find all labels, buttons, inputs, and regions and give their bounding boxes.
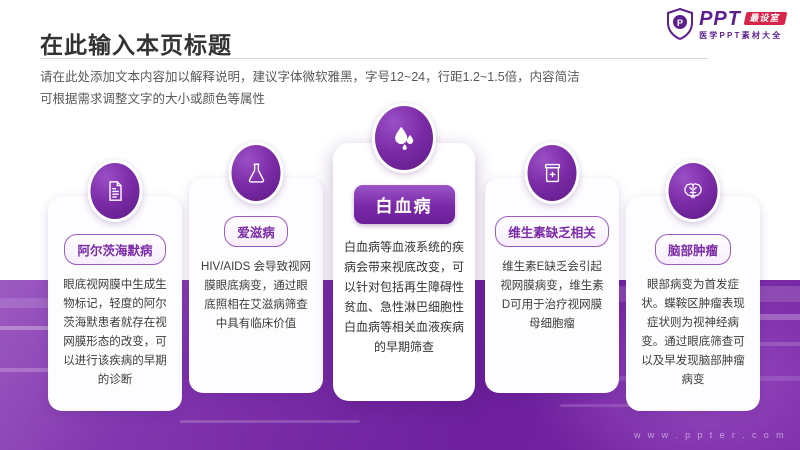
card-description: 维生素E缺乏会引起视网膜病变，维生素D可用于治疗视网膜母细胞瘤 (485, 258, 619, 334)
document-report-icon (91, 163, 140, 219)
card-icon-badge (666, 160, 721, 222)
slide-root: w w w . p p t e r . c o m 在此输入本页标题 请在此处添… (0, 0, 800, 450)
disease-card-alzheimer[interactable]: 阿尔茨海默病 眼底视网膜中生成生物标记，轻度的阿尔茨海默患者就存在视网膜形态的改… (48, 196, 182, 411)
card-description: HIV/AIDS 会导致视网膜眼底病变，通过眼底照相在艾滋病筛查中具有临床价值 (189, 258, 323, 334)
card-icon-badge (372, 103, 436, 173)
disease-card-brain-tumor[interactable]: 脑部肿瘤 眼部病变为首发症状。蝶鞍区肿瘤表现症状则为视神经病变。通过眼底筛查可以… (626, 196, 760, 411)
card-title-pill: 阿尔茨海默病 (64, 234, 165, 265)
card-description: 眼部病变为首发症状。蝶鞍区肿瘤表现症状则为视神经病变。通过眼底筛查可以及早发现脑… (626, 276, 760, 390)
card-title-pill: 脑部肿瘤 (655, 234, 731, 265)
disease-card-vitamin[interactable]: 维生素缺乏相关 维生素E缺乏会引起视网膜病变，维生素D可用于治疗视网膜母细胞瘤 (485, 178, 619, 393)
card-title-pill: 维生素缺乏相关 (495, 216, 609, 247)
card-icon-badge (525, 142, 580, 204)
disease-card-leukemia[interactable]: 白血病 白血病等血液系统的疾病会带来视底改变，可以针对包括再生障碍性贫血、急性淋… (333, 143, 475, 401)
card-icon-badge (88, 160, 143, 222)
card-row: 阿尔茨海默病 眼底视网膜中生成生物标记，轻度的阿尔茨海默患者就存在视网膜形态的改… (0, 0, 800, 450)
blood-drop-icon (375, 106, 433, 170)
card-icon-badge (229, 142, 284, 204)
disease-card-aids[interactable]: 爱滋病 HIV/AIDS 会导致视网膜眼底病变，通过眼底照相在艾滋病筛查中具有临… (189, 178, 323, 393)
card-title-pill: 爱滋病 (224, 216, 288, 247)
card-title-pill: 白血病 (354, 185, 455, 224)
card-description: 眼底视网膜中生成生物标记，轻度的阿尔茨海默患者就存在视网膜形态的改变，可以进行该… (48, 276, 182, 390)
card-description: 白血病等血液系统的疾病会带来视底改变，可以针对包括再生障碍性贫血、急性淋巴细胞性… (333, 237, 475, 357)
brain-icon (669, 163, 718, 219)
medicine-jar-icon (528, 145, 577, 201)
flask-icon (232, 145, 281, 201)
